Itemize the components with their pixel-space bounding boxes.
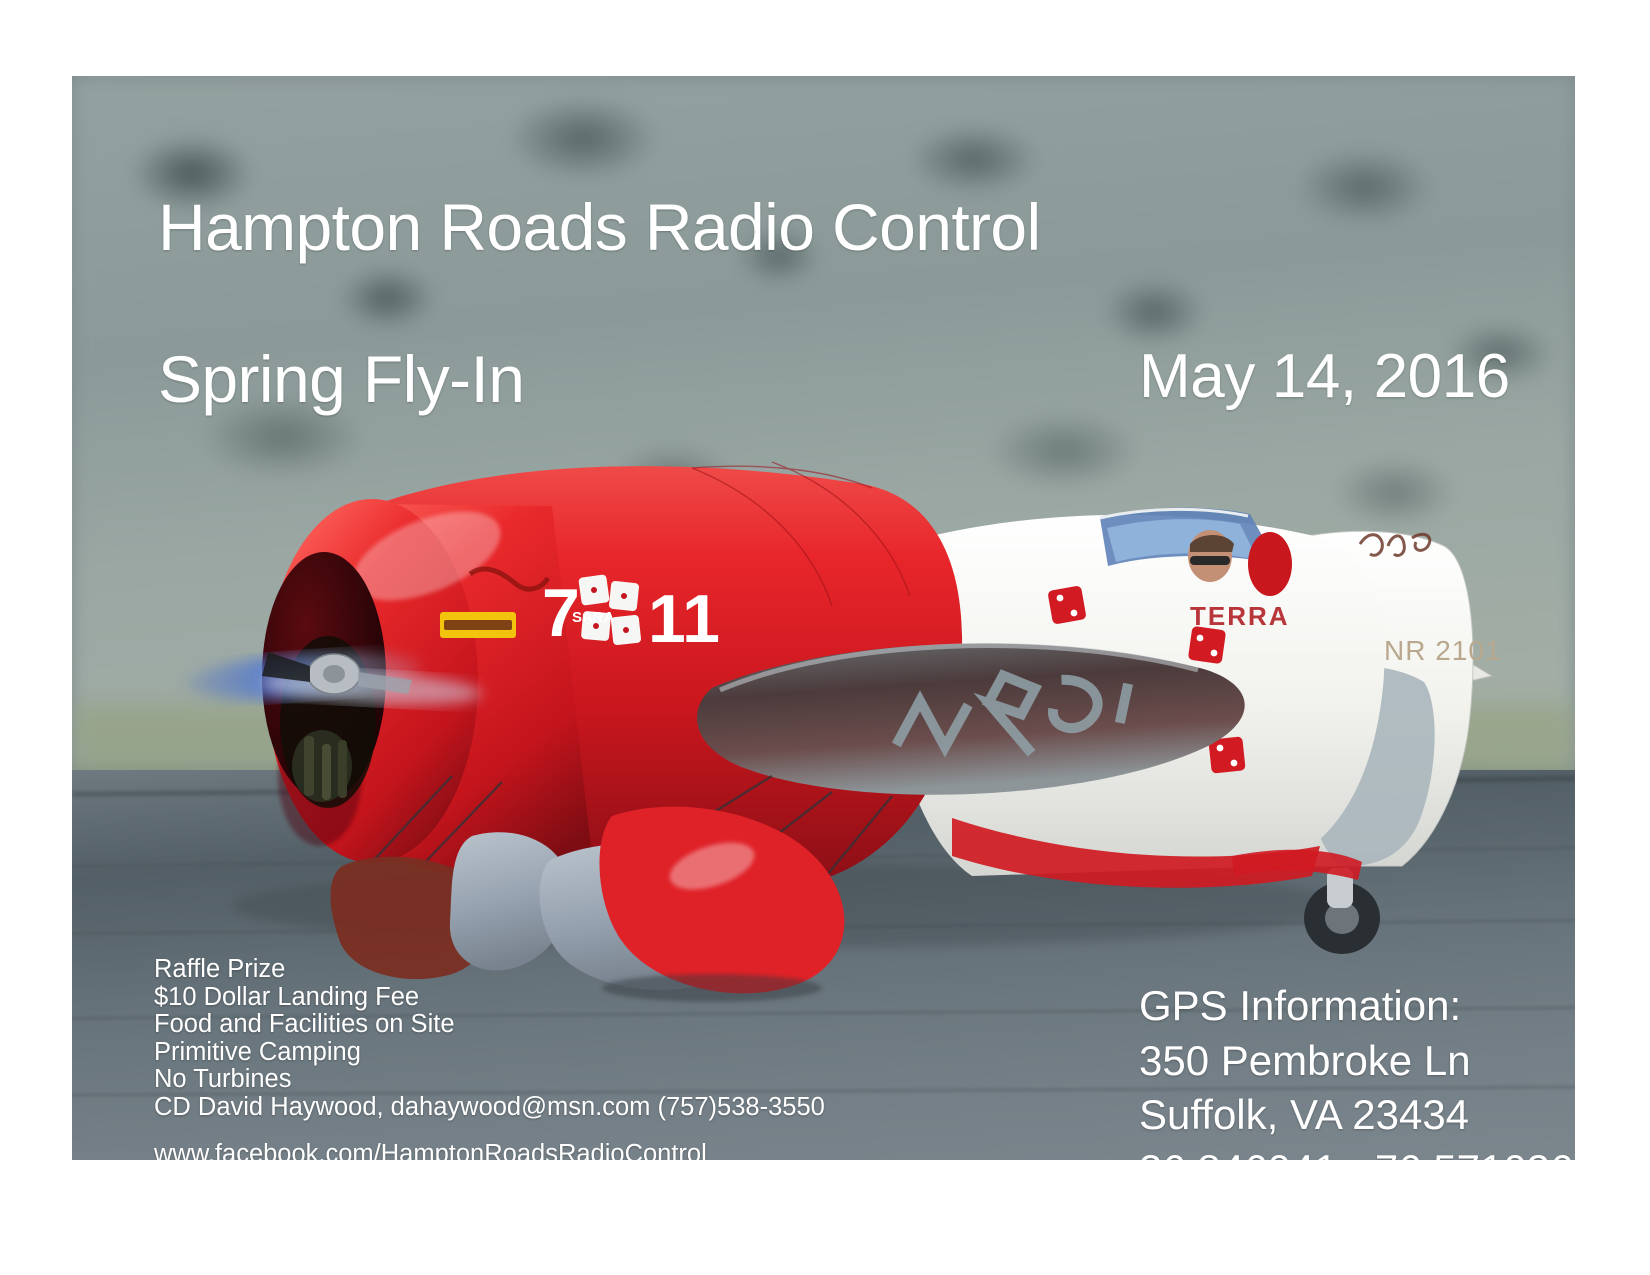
detail-line-contact: CD David Haywood, dahaywood@msn.com (757… [154, 1094, 825, 1122]
event-details-block: Raffle Prize $10 Dollar Landing Fee Food… [154, 956, 825, 1160]
flyer-poster: 7 SARA 11 [0, 0, 1650, 1275]
gps-street: 350 Pembroke Ln [1139, 1034, 1573, 1089]
page-title-line2: Spring Fly-In [158, 346, 524, 412]
detail-line-landing-fee: $10 Dollar Landing Fee [154, 984, 825, 1012]
background-hillside [72, 76, 1575, 770]
gps-information-block: GPS Information: 350 Pembroke Ln Suffolk… [1139, 979, 1573, 1160]
facebook-link[interactable]: www.facebook.com/HamptonRoadsRadioContro… [154, 1141, 825, 1160]
detail-line-raffle: Raffle Prize [154, 956, 825, 984]
detail-line-turbines: No Turbines [154, 1066, 825, 1094]
gps-city-state-zip: Suffolk, VA 23434 [1139, 1088, 1573, 1143]
detail-line-camping: Primitive Camping [154, 1039, 825, 1067]
detail-line-food: Food and Facilities on Site [154, 1011, 825, 1039]
airplane-photo: 7 SARA 11 [72, 76, 1575, 1160]
event-date: May 14, 2016 [1139, 346, 1510, 408]
page-title-line1: Hampton Roads Radio Control [158, 194, 1041, 260]
gps-coordinates: 36.846041, -76.571036 [1139, 1143, 1573, 1160]
gps-heading: GPS Information: [1139, 979, 1573, 1034]
